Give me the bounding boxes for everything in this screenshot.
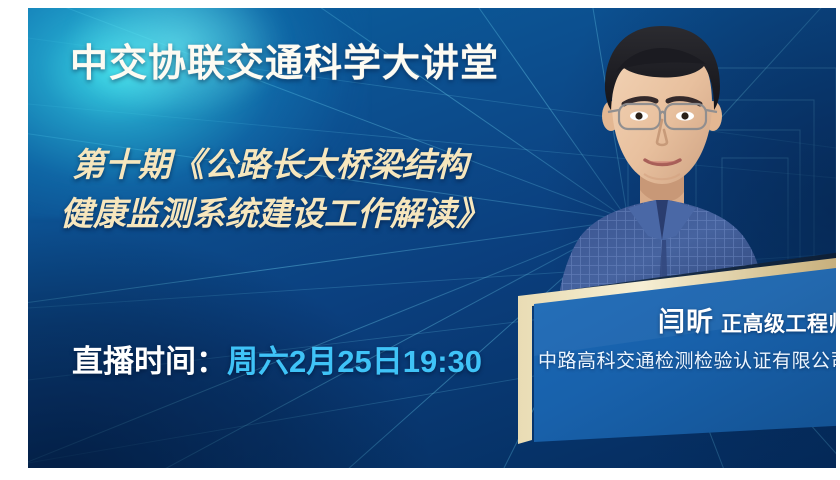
live-time-label: 直播时间： xyxy=(72,344,227,379)
page-title: 中交协联交通科学大讲堂 xyxy=(70,32,499,87)
subtitle-line-2: 健康监测系统建设工作解读》 xyxy=(60,189,489,238)
poster-canvas: 中交协联交通科学大讲堂 第十期《公路长大桥梁结构 健康监测系统建设工作解读》 直… xyxy=(28,8,836,468)
live-time: 直播时间：周六2月25日19:30 xyxy=(72,336,482,381)
subtitle-line-1: 第十期《公路长大桥梁结构 xyxy=(72,146,468,183)
speaker-info-panel: 闫昕正高级工程师 中路高科交通检测检验认证有限公司 xyxy=(498,256,836,456)
live-stream-poster: 中交协联交通科学大讲堂 第十期《公路长大桥梁结构 健康监测系统建设工作解读》 直… xyxy=(0,0,840,480)
live-time-value: 周六2月25日19:30 xyxy=(227,344,482,379)
episode-subtitle: 第十期《公路长大桥梁结构 健康监测系统建设工作解读》 xyxy=(72,140,489,238)
speaker-panel-shape xyxy=(498,256,836,456)
